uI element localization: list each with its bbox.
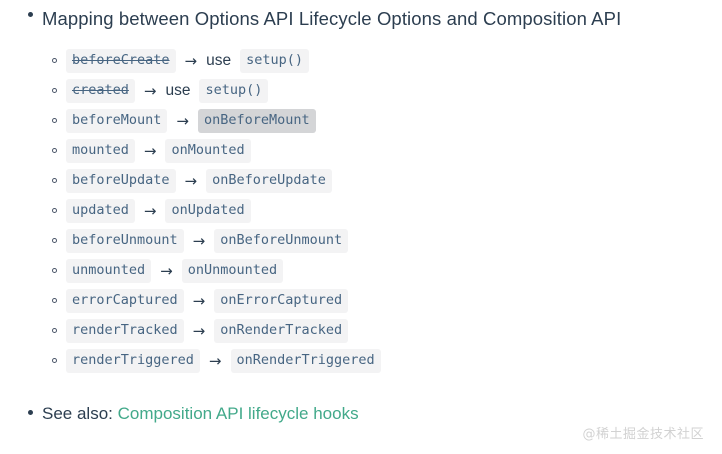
hollow-bullet-icon — [52, 88, 57, 93]
hollow-bullet-icon — [52, 58, 57, 63]
composition-api-hook-chip: onRenderTracked — [214, 319, 348, 344]
composition-api-hook-chip: onBeforeUnmount — [214, 229, 348, 254]
bullet-marker-icon — [28, 12, 33, 17]
lifecycle-mapping-row: mounted→onMounted — [42, 136, 722, 166]
arrow-right-icon: → — [144, 82, 157, 100]
mapping-section: Mapping between Options API Lifecycle Op… — [0, 0, 722, 376]
lifecycle-mapping-list: beforeCreate→usesetup()created→usesetup(… — [42, 46, 722, 376]
arrow-right-icon: → — [160, 262, 173, 280]
hollow-bullet-icon — [52, 178, 57, 183]
arrow-right-icon: → — [144, 202, 157, 220]
composition-api-hook-chip: onErrorCaptured — [214, 289, 348, 314]
hollow-bullet-icon — [52, 238, 57, 243]
hollow-bullet-icon — [52, 298, 57, 303]
watermark: @稀土掘金技术社区 — [582, 423, 704, 442]
options-api-hook-chip: updated — [66, 199, 135, 224]
hollow-bullet-icon — [52, 148, 57, 153]
content-bullet-list: Mapping between Options API Lifecycle Op… — [0, 0, 722, 426]
options-api-hook-chip: renderTracked — [66, 319, 184, 344]
hollow-bullet-icon — [52, 268, 57, 273]
options-api-hook-chip: unmounted — [66, 259, 151, 284]
options-api-hook-chip: errorCaptured — [66, 289, 184, 314]
composition-api-hook-chip: onBeforeUpdate — [206, 169, 332, 194]
options-api-hook-chip: beforeMount — [66, 109, 167, 134]
options-api-hook-chip: mounted — [66, 139, 135, 164]
connector-word: use — [206, 52, 231, 70]
hollow-bullet-icon — [52, 358, 57, 363]
see-also-section: See also: Composition API lifecycle hook… — [0, 398, 722, 426]
lifecycle-mapping-row: created→usesetup() — [42, 76, 722, 106]
composition-api-hook-chip: onMounted — [165, 139, 250, 164]
arrow-right-icon: → — [193, 292, 206, 310]
options-api-hook-chip: renderTriggered — [66, 349, 200, 374]
composition-api-hook-chip: onRenderTriggered — [231, 349, 381, 374]
lifecycle-mapping-row: beforeMount→onBeforeMount — [42, 106, 722, 136]
hollow-bullet-icon — [52, 118, 57, 123]
arrow-right-icon: → — [144, 142, 157, 160]
mapping-section-heading: Mapping between Options API Lifecycle Op… — [42, 0, 722, 32]
composition-api-hook-chip: onUnmounted — [182, 259, 283, 284]
connector-word: use — [165, 82, 190, 100]
hollow-bullet-icon — [52, 208, 57, 213]
hollow-bullet-icon — [52, 328, 57, 333]
lifecycle-mapping-row: beforeUpdate→onBeforeUpdate — [42, 166, 722, 196]
lifecycle-mapping-row: renderTriggered→onRenderTriggered — [42, 346, 722, 376]
arrow-right-icon: → — [193, 232, 206, 250]
lifecycle-mapping-row: unmounted→onUnmounted — [42, 256, 722, 286]
arrow-right-icon: → — [176, 112, 189, 130]
lifecycle-mapping-row: updated→onUpdated — [42, 196, 722, 226]
document-page: Mapping between Options API Lifecycle Op… — [0, 0, 722, 454]
bullet-marker-icon — [28, 410, 33, 415]
arrow-right-icon: → — [209, 352, 222, 370]
composition-api-hook-chip: setup() — [240, 49, 309, 74]
composition-api-lifecycle-hooks-link[interactable]: Composition API lifecycle hooks — [118, 404, 359, 423]
lifecycle-mapping-row: renderTracked→onRenderTracked — [42, 316, 722, 346]
lifecycle-mapping-row: beforeUnmount→onBeforeUnmount — [42, 226, 722, 256]
composition-api-hook-chip: onBeforeMount — [198, 109, 316, 134]
composition-api-hook-chip: onUpdated — [165, 199, 250, 224]
options-api-hook-chip: beforeUnmount — [66, 229, 184, 254]
see-also-label: See also: — [42, 404, 113, 423]
see-also-line: See also: Composition API lifecycle hook… — [42, 398, 722, 426]
arrow-right-icon: → — [185, 172, 198, 190]
lifecycle-mapping-row: beforeCreate→usesetup() — [42, 46, 722, 76]
lifecycle-mapping-row: errorCaptured→onErrorCaptured — [42, 286, 722, 316]
options-api-hook-chip: beforeUpdate — [66, 169, 176, 194]
arrow-right-icon: → — [185, 52, 198, 70]
options-api-hook-chip: created — [66, 79, 135, 104]
composition-api-hook-chip: setup() — [199, 79, 268, 104]
arrow-right-icon: → — [193, 322, 206, 340]
options-api-hook-chip: beforeCreate — [66, 49, 176, 74]
